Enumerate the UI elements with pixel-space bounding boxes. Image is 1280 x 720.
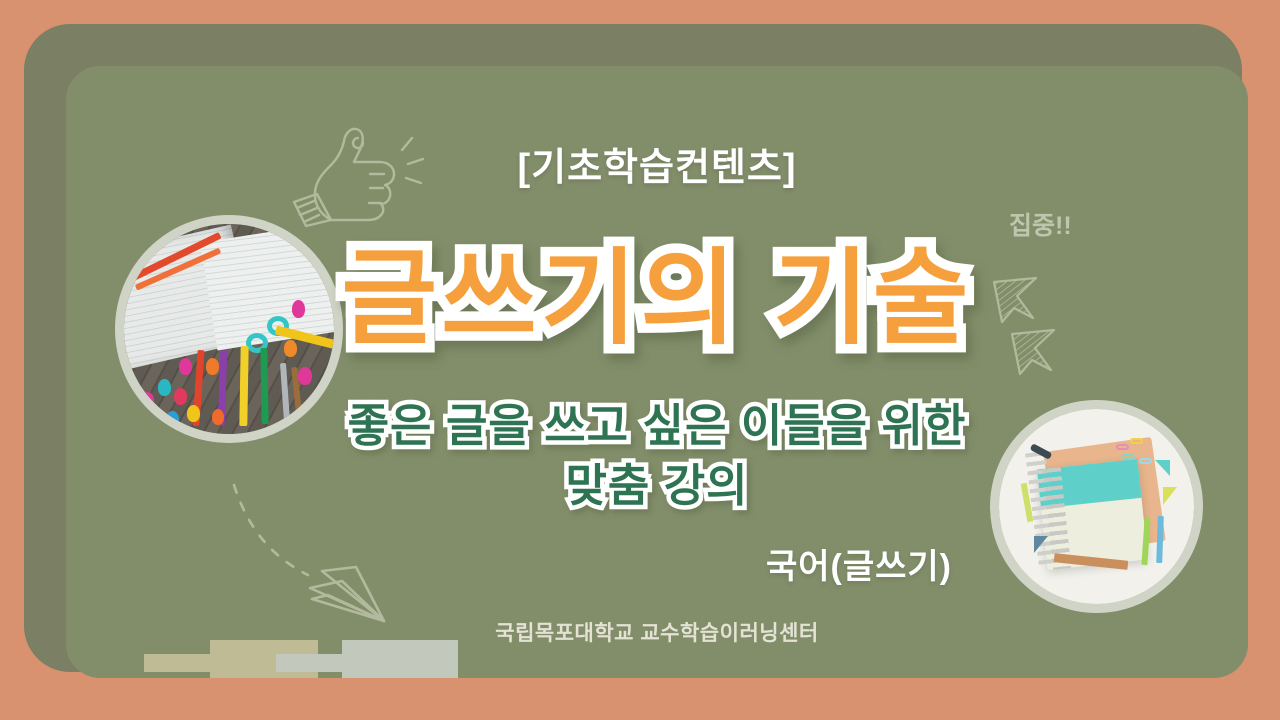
subtitle-line-1: 좋은 글을 쓰고 싶은 이들을 위한 — [66, 396, 1248, 455]
kicker-label: [기초학습컨텐츠] — [66, 136, 1248, 191]
accent-strip-khaki-overflow — [144, 654, 252, 672]
focus-doodle-label: 집중!! — [1009, 206, 1072, 242]
page-title: 글쓰기의 기술 — [66, 240, 1248, 360]
sticky-note-blue — [1034, 536, 1048, 553]
slide-canvas: [기초학습컨텐츠] 글쓰기의 기술 좋은 글을 쓰고 싶은 이들을 위한 맞춤 … — [0, 0, 1280, 720]
subtitle-line-2: 맞춤 강의 — [66, 456, 1248, 515]
bead-pink-2 — [298, 367, 312, 385]
board-frame: [기초학습컨텐츠] 글쓰기의 기술 좋은 글을 쓰고 싶은 이들을 위한 맞춤 … — [24, 24, 1242, 672]
board-face: [기초학습컨텐츠] 글쓰기의 기술 좋은 글을 쓰고 싶은 이들을 위한 맞춤 … — [66, 66, 1248, 678]
course-label: 국어(글쓰기) — [66, 539, 952, 588]
bead-teal-1 — [158, 379, 171, 396]
bead-pink-3 — [179, 358, 192, 375]
bead-orange-2 — [206, 358, 219, 375]
accent-strip-gray-overflow — [276, 654, 392, 672]
organization-label: 국립목포대학교 교수학습이러닝센터 — [66, 617, 1248, 647]
